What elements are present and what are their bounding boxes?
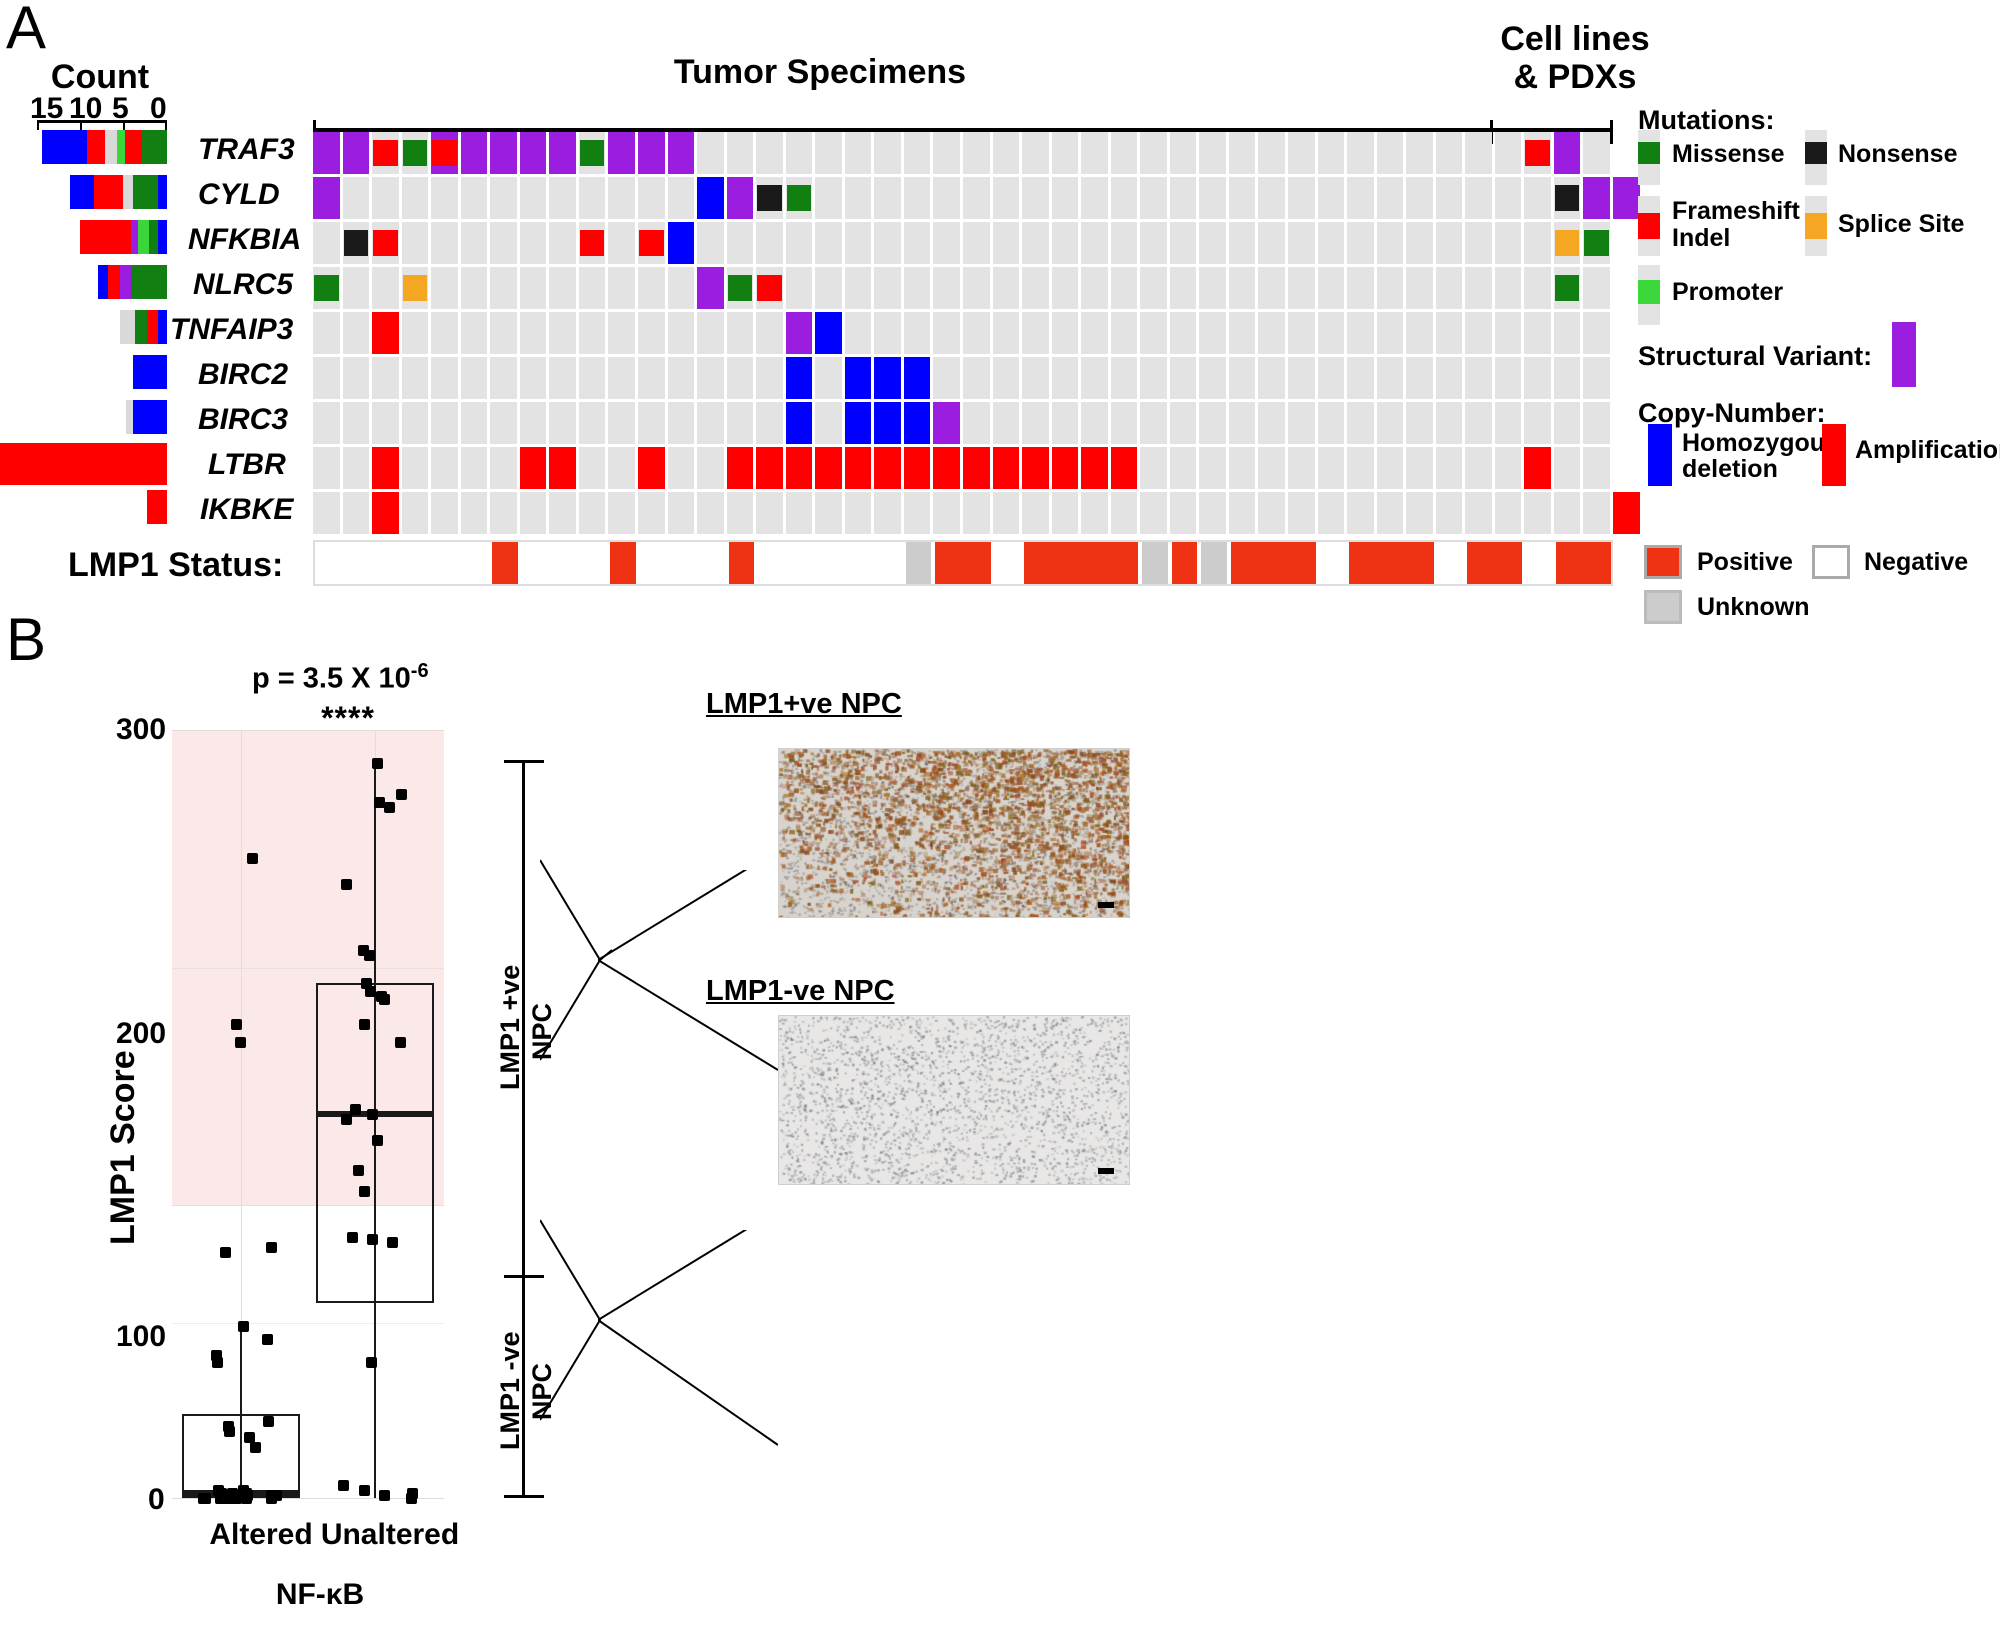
oncoprint-cell[interactable] xyxy=(1199,492,1226,534)
oncoprint-cell[interactable] xyxy=(343,267,370,309)
oncoprint-cell[interactable] xyxy=(1554,312,1581,354)
oncoprint-alteration-amplification[interactable] xyxy=(933,447,960,489)
oncoprint-alteration-splice[interactable] xyxy=(403,275,428,301)
oncoprint-cell[interactable] xyxy=(1022,177,1049,219)
oncoprint-cell[interactable] xyxy=(1258,312,1285,354)
oncoprint-cell[interactable] xyxy=(727,132,754,174)
oncoprint-cell[interactable] xyxy=(1495,312,1522,354)
oncoprint-cell[interactable] xyxy=(1436,222,1463,264)
oncoprint-cell[interactable] xyxy=(1258,402,1285,444)
oncoprint-alteration-frameshift[interactable] xyxy=(639,230,664,256)
oncoprint-cell[interactable] xyxy=(1583,267,1610,309)
oncoprint-alteration-frameshift[interactable] xyxy=(580,230,605,256)
oncoprint-cell[interactable] xyxy=(933,222,960,264)
oncoprint-cell[interactable] xyxy=(372,267,399,309)
oncoprint-cell[interactable] xyxy=(461,447,488,489)
oncoprint-cell[interactable] xyxy=(1258,132,1285,174)
oncoprint-cell[interactable] xyxy=(490,357,517,399)
oncoprint-cell[interactable] xyxy=(579,357,606,399)
oncoprint-cell[interactable] xyxy=(1170,177,1197,219)
oncoprint-cell[interactable] xyxy=(1406,447,1433,489)
oncoprint-alteration-homozygous_deletion[interactable] xyxy=(904,357,931,399)
oncoprint-cell[interactable] xyxy=(372,357,399,399)
oncoprint-cell[interactable] xyxy=(1022,492,1049,534)
oncoprint-cell[interactable] xyxy=(431,492,458,534)
oncoprint-cell[interactable] xyxy=(1347,402,1374,444)
oncoprint-cell[interactable] xyxy=(1406,312,1433,354)
oncoprint-cell[interactable] xyxy=(1495,132,1522,174)
oncoprint-cell[interactable] xyxy=(1436,357,1463,399)
oncoprint-cell[interactable] xyxy=(993,402,1020,444)
oncoprint-cell[interactable] xyxy=(638,402,665,444)
oncoprint-cell[interactable] xyxy=(402,492,429,534)
oncoprint-cell[interactable] xyxy=(756,402,783,444)
oncoprint-cell[interactable] xyxy=(815,177,842,219)
oncoprint-cell[interactable] xyxy=(1377,492,1404,534)
oncoprint-cell[interactable] xyxy=(549,222,576,264)
oncoprint-cell[interactable] xyxy=(727,312,754,354)
oncoprint-cell[interactable] xyxy=(756,357,783,399)
oncoprint-cell[interactable] xyxy=(815,132,842,174)
oncoprint-cell[interactable] xyxy=(608,402,635,444)
oncoprint-alteration-frameshift[interactable] xyxy=(432,140,457,166)
oncoprint-cell[interactable] xyxy=(1199,312,1226,354)
oncoprint-alteration-amplification[interactable] xyxy=(1524,447,1551,489)
oncoprint-cell[interactable] xyxy=(1583,132,1610,174)
oncoprint-cell[interactable] xyxy=(963,267,990,309)
oncoprint-cell[interactable] xyxy=(1199,267,1226,309)
oncoprint-cell[interactable] xyxy=(933,312,960,354)
oncoprint-cell[interactable] xyxy=(1524,222,1551,264)
oncoprint-cell[interactable] xyxy=(461,357,488,399)
oncoprint-cell[interactable] xyxy=(1081,312,1108,354)
oncoprint-cell[interactable] xyxy=(1288,132,1315,174)
oncoprint-alteration-missense[interactable] xyxy=(314,275,339,301)
oncoprint-cell[interactable] xyxy=(933,492,960,534)
oncoprint-cell[interactable] xyxy=(1436,177,1463,219)
oncoprint-cell[interactable] xyxy=(874,492,901,534)
oncoprint-cell[interactable] xyxy=(963,312,990,354)
oncoprint-cell[interactable] xyxy=(1465,357,1492,399)
lmp1-status-segment-positive[interactable] xyxy=(1467,542,1522,584)
oncoprint-cell[interactable] xyxy=(1377,447,1404,489)
oncoprint-cell[interactable] xyxy=(1318,132,1345,174)
lmp1-status-strip[interactable] xyxy=(313,540,1613,586)
oncoprint-cell[interactable] xyxy=(520,312,547,354)
lmp1-status-segment-positive[interactable] xyxy=(1556,542,1611,584)
oncoprint-cell[interactable] xyxy=(1140,312,1167,354)
oncoprint-cell[interactable] xyxy=(1436,312,1463,354)
oncoprint-cell[interactable] xyxy=(904,267,931,309)
oncoprint-cell[interactable] xyxy=(1436,132,1463,174)
oncoprint-cell[interactable] xyxy=(1465,492,1492,534)
oncoprint-alteration-amplification[interactable] xyxy=(1081,447,1108,489)
oncoprint-cell[interactable] xyxy=(697,402,724,444)
oncoprint-cell[interactable] xyxy=(1347,177,1374,219)
oncoprint-alteration-missense[interactable] xyxy=(728,275,753,301)
oncoprint-cell[interactable] xyxy=(402,447,429,489)
oncoprint-alteration-structural_variant[interactable] xyxy=(668,132,695,174)
oncoprint-alteration-structural_variant[interactable] xyxy=(461,132,488,174)
oncoprint-cell[interactable] xyxy=(1347,312,1374,354)
oncoprint-cell[interactable] xyxy=(1140,222,1167,264)
oncoprint-cell[interactable] xyxy=(490,447,517,489)
oncoprint-cell[interactable] xyxy=(549,492,576,534)
oncoprint-cell[interactable] xyxy=(1199,132,1226,174)
oncoprint-cell[interactable] xyxy=(313,312,340,354)
oncoprint-cell[interactable] xyxy=(1229,402,1256,444)
oncoprint-cell[interactable] xyxy=(933,357,960,399)
oncoprint-cell[interactable] xyxy=(1140,402,1167,444)
oncoprint-cell[interactable] xyxy=(993,177,1020,219)
oncoprint-alteration-structural_variant[interactable] xyxy=(520,132,547,174)
oncoprint-cell[interactable] xyxy=(343,312,370,354)
oncoprint-cell[interactable] xyxy=(1583,492,1610,534)
oncoprint-cell[interactable] xyxy=(1081,267,1108,309)
oncoprint-cell[interactable] xyxy=(1170,402,1197,444)
oncoprint-alteration-missense[interactable] xyxy=(403,140,428,166)
oncoprint-cell[interactable] xyxy=(1524,177,1551,219)
oncoprint-cell[interactable] xyxy=(963,177,990,219)
oncoprint-cell[interactable] xyxy=(490,312,517,354)
oncoprint-cell[interactable] xyxy=(638,267,665,309)
oncoprint-cell[interactable] xyxy=(402,177,429,219)
oncoprint-cell[interactable] xyxy=(490,492,517,534)
oncoprint-cell[interactable] xyxy=(1258,267,1285,309)
oncoprint-cell[interactable] xyxy=(815,267,842,309)
oncoprint-cell[interactable] xyxy=(963,402,990,444)
oncoprint-cell[interactable] xyxy=(1318,447,1345,489)
oncoprint-alteration-nonsense[interactable] xyxy=(757,185,782,211)
oncoprint-cell[interactable] xyxy=(1140,447,1167,489)
oncoprint-cell[interactable] xyxy=(1022,267,1049,309)
oncoprint-alteration-amplification[interactable] xyxy=(1052,447,1079,489)
oncoprint-cell[interactable] xyxy=(520,402,547,444)
oncoprint-cell[interactable] xyxy=(1170,312,1197,354)
oncoprint-cell[interactable] xyxy=(1052,402,1079,444)
oncoprint-cell[interactable] xyxy=(1258,177,1285,219)
oncoprint-cell[interactable] xyxy=(756,222,783,264)
oncoprint-cell[interactable] xyxy=(1318,312,1345,354)
oncoprint-cell[interactable] xyxy=(1377,132,1404,174)
oncoprint-alteration-homozygous_deletion[interactable] xyxy=(904,402,931,444)
oncoprint-alteration-amplification[interactable] xyxy=(756,447,783,489)
oncoprint-cell[interactable] xyxy=(1052,222,1079,264)
oncoprint-cell[interactable] xyxy=(874,312,901,354)
oncoprint-alteration-structural_variant[interactable] xyxy=(1554,132,1581,174)
oncoprint-cell[interactable] xyxy=(1465,267,1492,309)
oncoprint-cell[interactable] xyxy=(1111,132,1138,174)
oncoprint-cell[interactable] xyxy=(874,177,901,219)
oncoprint-cell[interactable] xyxy=(1436,447,1463,489)
oncoprint-cell[interactable] xyxy=(313,447,340,489)
oncoprint-cell[interactable] xyxy=(1583,312,1610,354)
oncoprint-cell[interactable] xyxy=(461,222,488,264)
oncoprint-cell[interactable] xyxy=(520,357,547,399)
oncoprint-cell[interactable] xyxy=(1199,402,1226,444)
oncoprint-cell[interactable] xyxy=(1111,357,1138,399)
oncoprint-cell[interactable] xyxy=(668,447,695,489)
oncoprint-cell[interactable] xyxy=(786,132,813,174)
oncoprint-alteration-amplification[interactable] xyxy=(372,492,399,534)
oncoprint-cell[interactable] xyxy=(549,267,576,309)
oncoprint-cell[interactable] xyxy=(1318,402,1345,444)
oncoprint-cell[interactable] xyxy=(815,492,842,534)
oncoprint-cell[interactable] xyxy=(1318,222,1345,264)
oncoprint-cell[interactable] xyxy=(549,402,576,444)
oncoprint-alteration-amplification[interactable] xyxy=(372,312,399,354)
oncoprint-cell[interactable] xyxy=(461,402,488,444)
oncoprint-alteration-amplification[interactable] xyxy=(1022,447,1049,489)
oncoprint-cell[interactable] xyxy=(1318,177,1345,219)
oncoprint-cell[interactable] xyxy=(1495,402,1522,444)
oncoprint-cell[interactable] xyxy=(431,267,458,309)
oncoprint-cell[interactable] xyxy=(1288,447,1315,489)
oncoprint-cell[interactable] xyxy=(756,132,783,174)
oncoprint-cell[interactable] xyxy=(461,177,488,219)
oncoprint-alteration-homozygous_deletion[interactable] xyxy=(786,357,813,399)
oncoprint-cell[interactable] xyxy=(963,357,990,399)
oncoprint-alteration-homozygous_deletion[interactable] xyxy=(845,357,872,399)
oncoprint-cell[interactable] xyxy=(520,177,547,219)
oncoprint-cell[interactable] xyxy=(1406,492,1433,534)
oncoprint-cell[interactable] xyxy=(1347,222,1374,264)
oncoprint-cell[interactable] xyxy=(904,492,931,534)
oncoprint-cell[interactable] xyxy=(697,132,724,174)
oncoprint-cell[interactable] xyxy=(1052,267,1079,309)
oncoprint-alteration-amplification[interactable] xyxy=(638,447,665,489)
oncoprint-cell[interactable] xyxy=(579,492,606,534)
oncoprint-cell[interactable] xyxy=(549,357,576,399)
oncoprint-cell[interactable] xyxy=(1495,222,1522,264)
oncoprint-cell[interactable] xyxy=(1170,132,1197,174)
oncoprint-cell[interactable] xyxy=(1495,177,1522,219)
oncoprint-alteration-missense[interactable] xyxy=(787,185,812,211)
oncoprint-cell[interactable] xyxy=(638,177,665,219)
oncoprint-cell[interactable] xyxy=(372,402,399,444)
oncoprint-cell[interactable] xyxy=(1022,132,1049,174)
oncoprint-cell[interactable] xyxy=(786,222,813,264)
oncoprint-cell[interactable] xyxy=(372,177,399,219)
oncoprint-cell[interactable] xyxy=(1495,267,1522,309)
oncoprint-cell[interactable] xyxy=(1170,357,1197,399)
oncoprint-alteration-frameshift[interactable] xyxy=(757,275,782,301)
oncoprint-cell[interactable] xyxy=(756,492,783,534)
oncoprint-cell[interactable] xyxy=(697,357,724,399)
oncoprint-cell[interactable] xyxy=(845,312,872,354)
oncoprint-alteration-structural_variant[interactable] xyxy=(1613,177,1640,219)
oncoprint-cell[interactable] xyxy=(1052,492,1079,534)
oncoprint-cell[interactable] xyxy=(1081,132,1108,174)
lmp1-status-segment-positive[interactable] xyxy=(1024,542,1138,584)
oncoprint-cell[interactable] xyxy=(1377,177,1404,219)
oncoprint-cell[interactable] xyxy=(402,402,429,444)
oncoprint-cell[interactable] xyxy=(963,222,990,264)
oncoprint-cell[interactable] xyxy=(697,222,724,264)
oncoprint-cell[interactable] xyxy=(1524,357,1551,399)
oncoprint-cell[interactable] xyxy=(431,222,458,264)
oncoprint-cell[interactable] xyxy=(1229,492,1256,534)
oncoprint-cell[interactable] xyxy=(1140,132,1167,174)
oncoprint-cell[interactable] xyxy=(313,492,340,534)
oncoprint-cell[interactable] xyxy=(343,357,370,399)
oncoprint-cell[interactable] xyxy=(431,357,458,399)
oncoprint-cell[interactable] xyxy=(993,357,1020,399)
oncoprint-cell[interactable] xyxy=(1554,402,1581,444)
oncoprint-cell[interactable] xyxy=(1465,402,1492,444)
lmp1-status-segment-positive[interactable] xyxy=(729,542,755,584)
oncoprint-cell[interactable] xyxy=(431,402,458,444)
oncoprint-cell[interactable] xyxy=(1465,222,1492,264)
oncoprint-cell[interactable] xyxy=(1288,357,1315,399)
oncoprint-cell[interactable] xyxy=(1081,222,1108,264)
oncoprint-alteration-homozygous_deletion[interactable] xyxy=(815,312,842,354)
oncoprint-cell[interactable] xyxy=(1111,312,1138,354)
oncoprint-alteration-structural_variant[interactable] xyxy=(1583,177,1610,219)
oncoprint-cell[interactable] xyxy=(727,492,754,534)
oncoprint-cell[interactable] xyxy=(993,492,1020,534)
oncoprint-cell[interactable] xyxy=(1081,177,1108,219)
oncoprint-cell[interactable] xyxy=(815,402,842,444)
oncoprint-cell[interactable] xyxy=(1258,357,1285,399)
oncoprint-cell[interactable] xyxy=(756,312,783,354)
oncoprint-alteration-structural_variant[interactable] xyxy=(313,132,340,174)
oncoprint-cell[interactable] xyxy=(1199,177,1226,219)
oncoprint-cell[interactable] xyxy=(402,312,429,354)
oncoprint-cell[interactable] xyxy=(1288,402,1315,444)
oncoprint-cell[interactable] xyxy=(1229,312,1256,354)
oncoprint-cell[interactable] xyxy=(1465,447,1492,489)
oncoprint-cell[interactable] xyxy=(1229,357,1256,399)
oncoprint-alteration-homozygous_deletion[interactable] xyxy=(786,402,813,444)
oncoprint-alteration-amplification[interactable] xyxy=(549,447,576,489)
oncoprint-cell[interactable] xyxy=(461,267,488,309)
oncoprint-cell[interactable] xyxy=(1495,492,1522,534)
oncoprint-cell[interactable] xyxy=(579,312,606,354)
oncoprint-cell[interactable] xyxy=(1465,132,1492,174)
oncoprint-cell[interactable] xyxy=(608,447,635,489)
oncoprint-cell[interactable] xyxy=(993,267,1020,309)
oncoprint-cell[interactable] xyxy=(1347,357,1374,399)
oncoprint-alteration-frameshift[interactable] xyxy=(373,140,398,166)
oncoprint-cell[interactable] xyxy=(520,267,547,309)
lmp1-status-segment-positive[interactable] xyxy=(492,542,518,584)
oncoprint-cell[interactable] xyxy=(431,447,458,489)
lmp1-status-segment-unknown[interactable] xyxy=(1201,542,1227,584)
oncoprint-cell[interactable] xyxy=(1436,492,1463,534)
oncoprint-cell[interactable] xyxy=(697,447,724,489)
oncoprint-cell[interactable] xyxy=(874,132,901,174)
oncoprint-cell[interactable] xyxy=(402,357,429,399)
oncoprint-cell[interactable] xyxy=(904,177,931,219)
oncoprint-cell[interactable] xyxy=(343,492,370,534)
oncoprint-cell[interactable] xyxy=(668,267,695,309)
oncoprint-cell[interactable] xyxy=(1524,402,1551,444)
oncoprint-cell[interactable] xyxy=(1111,402,1138,444)
oncoprint-alteration-structural_variant[interactable] xyxy=(608,132,635,174)
oncoprint-cell[interactable] xyxy=(1052,312,1079,354)
oncoprint-cell[interactable] xyxy=(1258,492,1285,534)
oncoprint-cell[interactable] xyxy=(608,492,635,534)
oncoprint-cell[interactable] xyxy=(1524,267,1551,309)
oncoprint-cell[interactable] xyxy=(933,177,960,219)
oncoprint-alteration-structural_variant[interactable] xyxy=(549,132,576,174)
oncoprint-cell[interactable] xyxy=(1081,492,1108,534)
oncoprint-cell[interactable] xyxy=(1081,357,1108,399)
oncoprint-cell[interactable] xyxy=(1022,402,1049,444)
oncoprint-cell[interactable] xyxy=(1465,177,1492,219)
oncoprint-cell[interactable] xyxy=(668,312,695,354)
oncoprint-cell[interactable] xyxy=(1199,447,1226,489)
oncoprint-alteration-amplification[interactable] xyxy=(963,447,990,489)
oncoprint-cell[interactable] xyxy=(815,357,842,399)
oncoprint-cell[interactable] xyxy=(1111,267,1138,309)
oncoprint-alteration-homozygous_deletion[interactable] xyxy=(845,402,872,444)
oncoprint-cell[interactable] xyxy=(1554,447,1581,489)
oncoprint-cell[interactable] xyxy=(1052,132,1079,174)
oncoprint-cell[interactable] xyxy=(608,222,635,264)
oncoprint-alteration-frameshift[interactable] xyxy=(373,230,398,256)
oncoprint-alteration-amplification[interactable] xyxy=(904,447,931,489)
oncoprint-cell[interactable] xyxy=(845,492,872,534)
oncoprint-cell[interactable] xyxy=(727,402,754,444)
oncoprint-cell[interactable] xyxy=(638,312,665,354)
oncoprint-cell[interactable] xyxy=(845,267,872,309)
oncoprint-cell[interactable] xyxy=(1554,357,1581,399)
oncoprint-cell[interactable] xyxy=(1495,357,1522,399)
oncoprint-cell[interactable] xyxy=(1229,267,1256,309)
oncoprint-cell[interactable] xyxy=(1258,447,1285,489)
oncoprint-cell[interactable] xyxy=(461,492,488,534)
oncoprint-cell[interactable] xyxy=(1170,267,1197,309)
oncoprint-cell[interactable] xyxy=(1229,132,1256,174)
oncoprint-alteration-structural_variant[interactable] xyxy=(697,267,724,309)
oncoprint-cell[interactable] xyxy=(1406,177,1433,219)
oncoprint-alteration-amplification[interactable] xyxy=(727,447,754,489)
oncoprint-cell[interactable] xyxy=(668,177,695,219)
oncoprint-cell[interactable] xyxy=(1288,267,1315,309)
oncoprint-cell[interactable] xyxy=(431,177,458,219)
oncoprint-cell[interactable] xyxy=(343,447,370,489)
oncoprint-cell[interactable] xyxy=(1406,402,1433,444)
oncoprint-cell[interactable] xyxy=(904,222,931,264)
oncoprint-alteration-amplification[interactable] xyxy=(993,447,1020,489)
oncoprint-cell[interactable] xyxy=(461,312,488,354)
oncoprint-cell[interactable] xyxy=(549,177,576,219)
oncoprint-cell[interactable] xyxy=(697,492,724,534)
oncoprint-cell[interactable] xyxy=(1406,222,1433,264)
oncoprint-cell[interactable] xyxy=(1377,312,1404,354)
oncoprint-alteration-homozygous_deletion[interactable] xyxy=(668,222,695,264)
oncoprint-cell[interactable] xyxy=(1288,177,1315,219)
oncoprint-cell[interactable] xyxy=(1022,312,1049,354)
oncoprint-cell[interactable] xyxy=(1288,222,1315,264)
oncoprint-cell[interactable] xyxy=(1377,402,1404,444)
oncoprint-cell[interactable] xyxy=(1318,357,1345,399)
oncoprint-cell[interactable] xyxy=(1111,492,1138,534)
oncoprint-cell[interactable] xyxy=(343,402,370,444)
oncoprint-cell[interactable] xyxy=(1199,357,1226,399)
oncoprint-cell[interactable] xyxy=(313,402,340,444)
oncoprint-cell[interactable] xyxy=(1199,222,1226,264)
oncoprint-cell[interactable] xyxy=(1583,357,1610,399)
oncoprint-cell[interactable] xyxy=(1052,177,1079,219)
oncoprint-cell[interactable] xyxy=(1406,357,1433,399)
oncoprint-cell[interactable] xyxy=(1377,267,1404,309)
oncoprint-cell[interactable] xyxy=(815,222,842,264)
oncoprint-alteration-missense[interactable] xyxy=(580,140,605,166)
oncoprint-alteration-amplification[interactable] xyxy=(874,447,901,489)
